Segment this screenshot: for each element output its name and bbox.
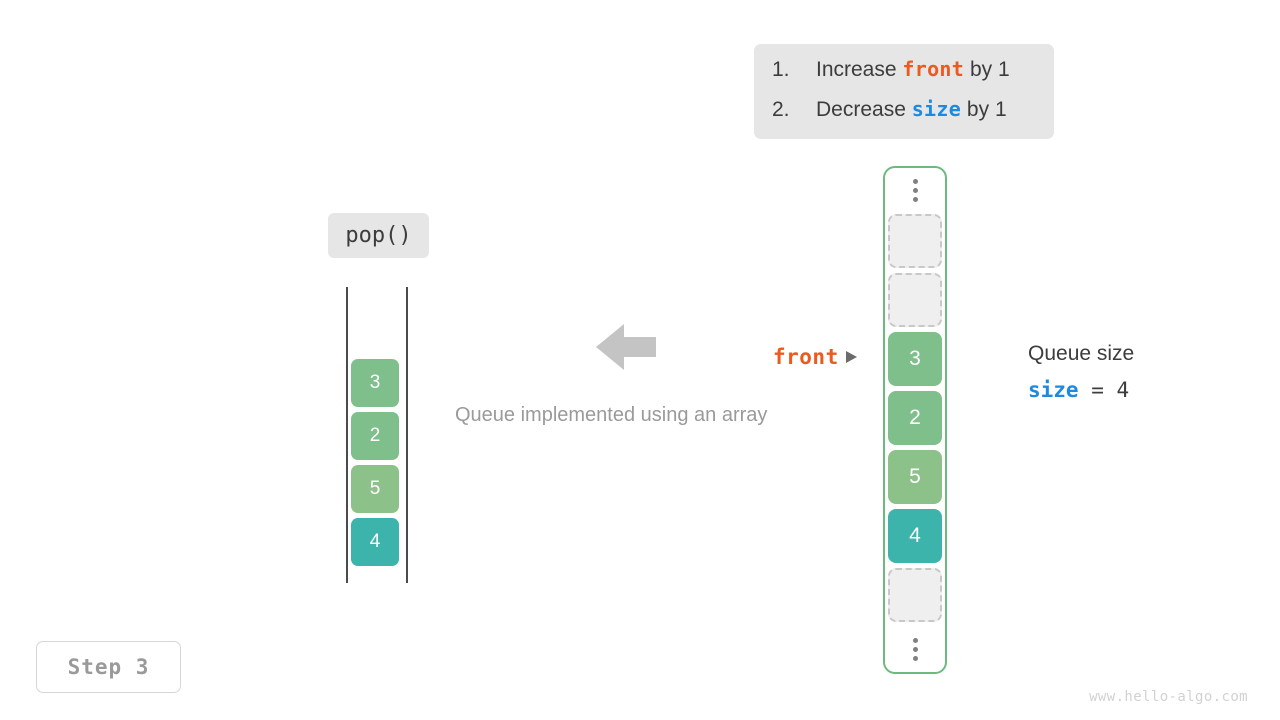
instruction-number: 2. <box>772 98 816 122</box>
size-info: Queue size size = 4 <box>1028 342 1134 402</box>
stack-rail-left <box>346 287 348 583</box>
front-pointer: front <box>773 345 857 369</box>
array-cell-filled: 5 <box>888 450 942 504</box>
keyword-size: size <box>912 97 961 121</box>
cell-value: 4 <box>370 531 381 553</box>
front-pointer-label: front <box>773 345 839 369</box>
array-cell-empty <box>888 273 942 327</box>
instruction-pre-text: Increase <box>816 58 902 81</box>
size-expression: size = 4 <box>1028 378 1134 402</box>
instruction-post-text: by 1 <box>964 58 1010 81</box>
arrow-left-icon <box>596 322 656 372</box>
cell-value: 5 <box>909 465 921 489</box>
cell-value: 3 <box>909 347 921 371</box>
left-stack-cell: 2 <box>351 412 399 460</box>
triangle-right-icon <box>846 351 857 363</box>
operation-label: pop() <box>328 213 429 258</box>
instruction-item-2: 2. Decrease size by 1 <box>754 97 1054 137</box>
vertical-ellipsis-icon <box>913 627 918 673</box>
cell-value: 2 <box>370 425 381 447</box>
array-cell-filled: 3 <box>888 332 942 386</box>
array-cell-filled: 4 <box>888 509 942 563</box>
left-stack: 3 2 5 4 <box>351 359 399 571</box>
size-value: 4 <box>1117 378 1130 402</box>
size-variable: size <box>1028 378 1079 402</box>
instruction-number: 1. <box>772 58 816 82</box>
array-cell-empty <box>888 214 942 268</box>
cell-value: 2 <box>909 406 921 430</box>
instruction-item-1: 1. Increase front by 1 <box>754 57 1054 97</box>
vertical-ellipsis-icon <box>913 168 918 214</box>
cell-value: 3 <box>370 372 381 394</box>
stack-rail-right <box>406 287 408 583</box>
instruction-text: Decrease size by 1 <box>816 97 1007 122</box>
keyword-front: front <box>902 57 964 81</box>
instruction-text: Increase front by 1 <box>816 57 1010 82</box>
cell-value: 5 <box>370 478 381 500</box>
cell-value: 4 <box>909 524 921 548</box>
left-stack-cell: 5 <box>351 465 399 513</box>
array-container: 3 2 5 4 <box>883 166 947 674</box>
left-stack-cell: 4 <box>351 518 399 566</box>
size-title: Queue size <box>1028 342 1134 366</box>
array-cell-filled: 2 <box>888 391 942 445</box>
left-stack-cell: 3 <box>351 359 399 407</box>
watermark: www.hello-algo.com <box>1089 689 1248 705</box>
instruction-pre-text: Decrease <box>816 98 912 121</box>
size-operator: = <box>1079 378 1117 402</box>
instruction-post-text: by 1 <box>961 98 1007 121</box>
step-badge: Step 3 <box>36 641 181 693</box>
illustration-canvas: 1. Increase front by 1 2. Decrease size … <box>0 0 1280 720</box>
diagram-caption: Queue implemented using an array <box>455 404 767 427</box>
instructions-panel: 1. Increase front by 1 2. Decrease size … <box>754 44 1054 139</box>
array-cell-empty <box>888 568 942 622</box>
